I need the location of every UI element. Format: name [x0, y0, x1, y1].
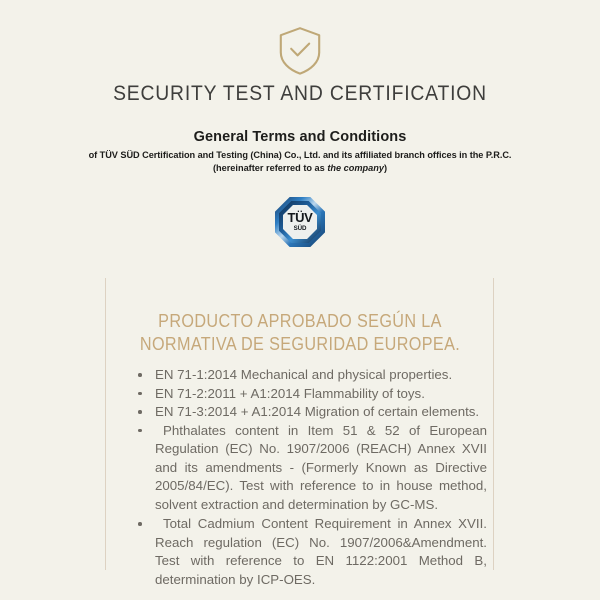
terms-heading: General Terms and Conditions — [0, 128, 600, 146]
list-item: EN 71-1:2014 Mechanical and physical pro… — [134, 366, 487, 385]
certification-page: SECURITY TEST AND CERTIFICATION General … — [0, 0, 600, 600]
logo-primary-text: TÜV — [287, 212, 312, 224]
page-title: SECURITY TEST AND CERTIFICATION — [24, 82, 576, 106]
terms-parenthetical: (hereinafter referred to as the company) — [0, 162, 600, 175]
logo-secondary-text: SÜD — [294, 225, 307, 233]
shield-check-icon — [278, 26, 322, 76]
approval-heading-line-1: PRODUCTO APROBADO SEGÚN LA — [138, 310, 462, 333]
approval-heading: PRODUCTO APROBADO SEGÚN LA NORMATIVA DE … — [138, 310, 462, 356]
list-item-text: Total Cadmium Content Requirement in Ann… — [155, 516, 487, 587]
vertical-rule-right — [493, 278, 494, 570]
logo-octagon-inner: TÜV SÜD — [283, 205, 317, 239]
bullet-dot-icon — [138, 429, 142, 433]
list-item: Total Cadmium Content Requirement in Ann… — [134, 515, 487, 589]
list-item-text: EN 71-1:2014 Mechanical and physical pro… — [155, 367, 452, 382]
terms-parenthetical-prefix: (hereinafter referred to as — [213, 163, 327, 173]
bullet-dot-icon — [138, 373, 142, 377]
terms-block: General Terms and Conditions of TÜV SÜD … — [0, 128, 600, 175]
list-item-text: EN 71-2:2011 + A1:2014 Flammability of t… — [155, 386, 425, 401]
shield-icon-container — [0, 26, 600, 76]
terms-parenthetical-suffix: ) — [384, 163, 387, 173]
list-item-text: Phthalates content in Item 51 & 52 of Eu… — [155, 423, 487, 512]
bullet-dot-icon — [138, 410, 142, 414]
list-item: Phthalates content in Item 51 & 52 of Eu… — [134, 422, 487, 515]
list-item: EN 71-3:2014 + A1:2014 Migration of cert… — [134, 403, 487, 422]
tuv-sud-logo: TÜV SÜD — [275, 197, 325, 247]
logo-container: TÜV SÜD — [0, 197, 600, 247]
bullet-dot-icon — [138, 522, 142, 526]
list-item-text: EN 71-3:2014 + A1:2014 Migration of cert… — [155, 404, 479, 419]
standards-list: EN 71-1:2014 Mechanical and physical pro… — [134, 366, 487, 589]
approval-heading-line-2: NORMATIVA DE SEGURIDAD EUROPEA. — [138, 333, 462, 356]
vertical-rule-left — [105, 278, 106, 570]
terms-subtitle: of TÜV SÜD Certification and Testing (Ch… — [0, 149, 600, 162]
bullet-dot-icon — [138, 392, 142, 396]
terms-parenthetical-italic: the company — [327, 163, 384, 173]
list-item: EN 71-2:2011 + A1:2014 Flammability of t… — [134, 385, 487, 404]
